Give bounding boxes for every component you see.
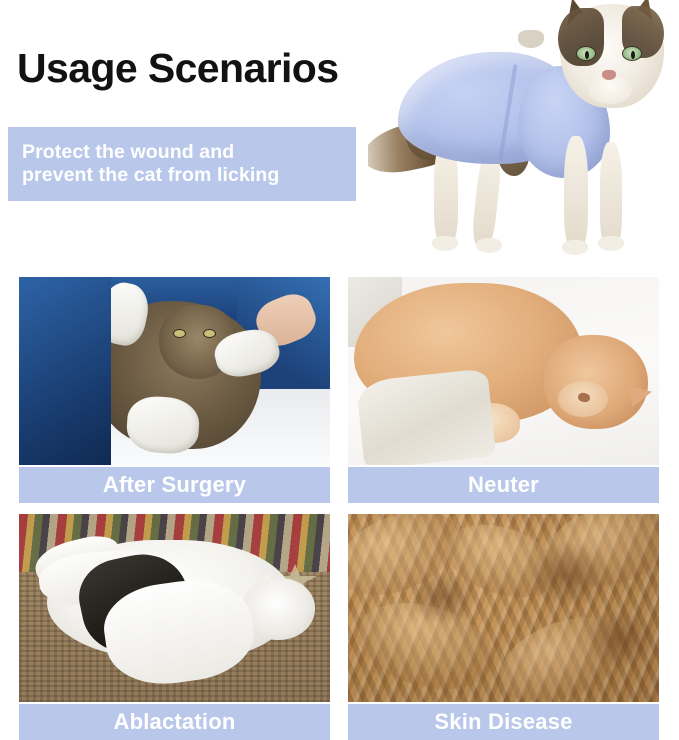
ginger-cat-ear: [628, 381, 654, 407]
subtitle-line-2: prevent the cat from licking: [22, 164, 356, 187]
hero-cat-nose: [602, 70, 616, 80]
hero-cat-right-eye: [622, 46, 642, 61]
folded-towel: [356, 368, 496, 465]
subtitle-line-1: Protect the wound and: [22, 141, 356, 164]
after-surgery-photo: [19, 277, 330, 465]
subtitle-banner: Protect the wound and prevent the cat fr…: [8, 127, 356, 201]
scenario-grid: After Surgery Neuter: [19, 277, 659, 740]
hero-cat-front-left-leg: [564, 136, 588, 248]
infographic-page: Usage Scenarios Protect the wound and pr…: [0, 0, 679, 740]
scenario-card-neuter: Neuter: [348, 277, 659, 503]
scenario-label-text: After Surgery: [103, 472, 246, 498]
scenario-label-bar: Neuter: [348, 467, 659, 503]
scenario-card-skin-disease: Skin Disease: [348, 514, 659, 740]
hero-cat-paw: [432, 236, 458, 251]
scenario-label-text: Neuter: [468, 472, 539, 498]
hero-cat-paw: [476, 238, 502, 253]
mother-cat-head: [243, 578, 315, 640]
scenario-label-bar: Ablactation: [19, 704, 330, 740]
fur-shadow: [526, 542, 610, 608]
scenario-label-bar: Skin Disease: [348, 704, 659, 740]
neuter-photo: [348, 277, 659, 465]
fur-shadow: [584, 610, 656, 668]
page-title: Usage Scenarios: [17, 48, 338, 89]
fur-shadow: [408, 570, 478, 624]
scenario-card-ablactation: Ablactation: [19, 514, 330, 740]
scenario-label-text: Ablactation: [114, 709, 236, 735]
hero-cat-muzzle: [588, 76, 632, 104]
scenario-label-text: Skin Disease: [434, 709, 572, 735]
ablactation-photo: [19, 514, 330, 702]
tabby-cat-eye: [173, 329, 186, 338]
vet-scrub-left: [19, 277, 111, 465]
hero-cat-left-eye: [576, 46, 596, 61]
hero-cat-paw: [562, 240, 588, 255]
tabby-cat-eye: [203, 329, 216, 338]
skin-disease-photo: [348, 514, 659, 702]
ginger-cat-head: [544, 335, 648, 429]
hero-cat-front-right-leg: [600, 142, 622, 248]
hero-suit-notch: [518, 30, 544, 48]
hero-cat-paw: [598, 236, 624, 251]
hero-product-photo: [368, 0, 679, 258]
scenario-label-bar: After Surgery: [19, 467, 330, 503]
scenario-card-after-surgery: After Surgery: [19, 277, 330, 503]
